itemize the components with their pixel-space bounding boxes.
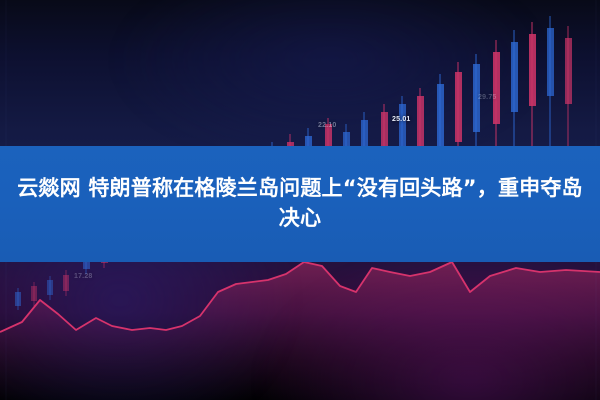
data-label: 25.01 <box>392 116 411 123</box>
screenshot-root: 22.10 25.01 29.75 18.07 18.75 17.28 云燚网 … <box>0 0 600 400</box>
data-label: 17.28 <box>74 273 93 280</box>
headline-title: 云燚网 特朗普称在格陵兰岛问题上“没有回头路”，重申夺岛决心 <box>0 174 600 234</box>
headline-band: 云燚网 特朗普称在格陵兰岛问题上“没有回头路”，重申夺岛决心 <box>0 146 600 262</box>
data-label: 29.75 <box>478 94 497 101</box>
data-label: 22.10 <box>318 122 337 129</box>
